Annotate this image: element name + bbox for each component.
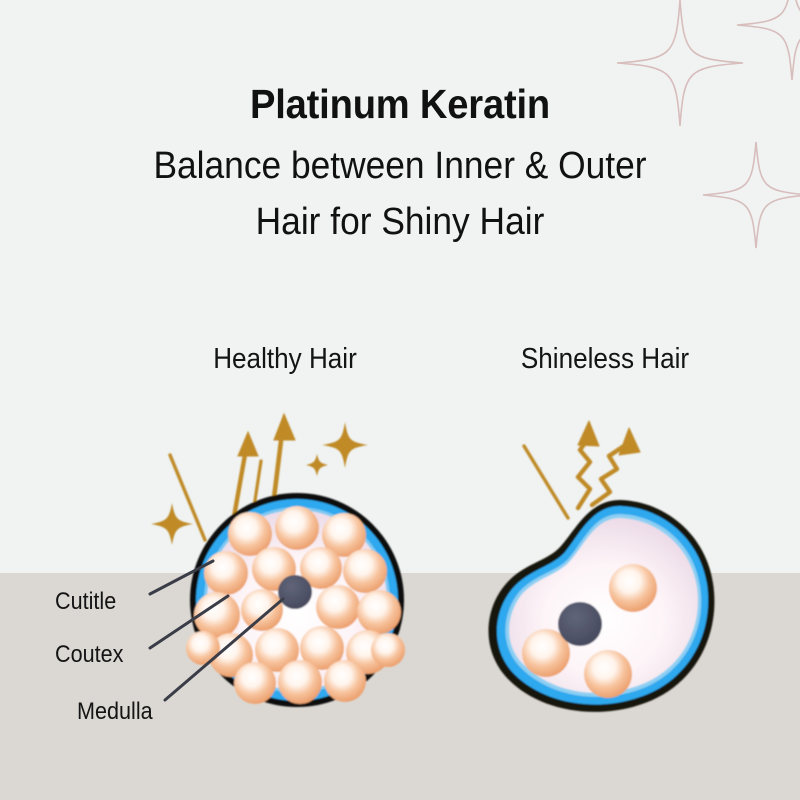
page-subtitle-line-1: Balance between Inner & Outer (28, 140, 772, 194)
callout-label-cortex: Coutex (55, 641, 123, 669)
page-subtitle-line-2: Hair for Shiny Hair (28, 196, 772, 250)
title-block: Platinum Keratin Balance between Inner &… (0, 82, 800, 250)
callout-label-medulla: Medulla (77, 698, 153, 726)
background-lower (0, 573, 800, 800)
panel-heading-shineless: Shineless Hair (448, 343, 763, 376)
callout-label-cuticle: Cutitle (55, 588, 116, 616)
infographic-canvas: Platinum Keratin Balance between Inner &… (0, 0, 800, 800)
page-title: Platinum Keratin (28, 82, 772, 126)
panel-heading-healthy: Healthy Hair (128, 343, 443, 376)
